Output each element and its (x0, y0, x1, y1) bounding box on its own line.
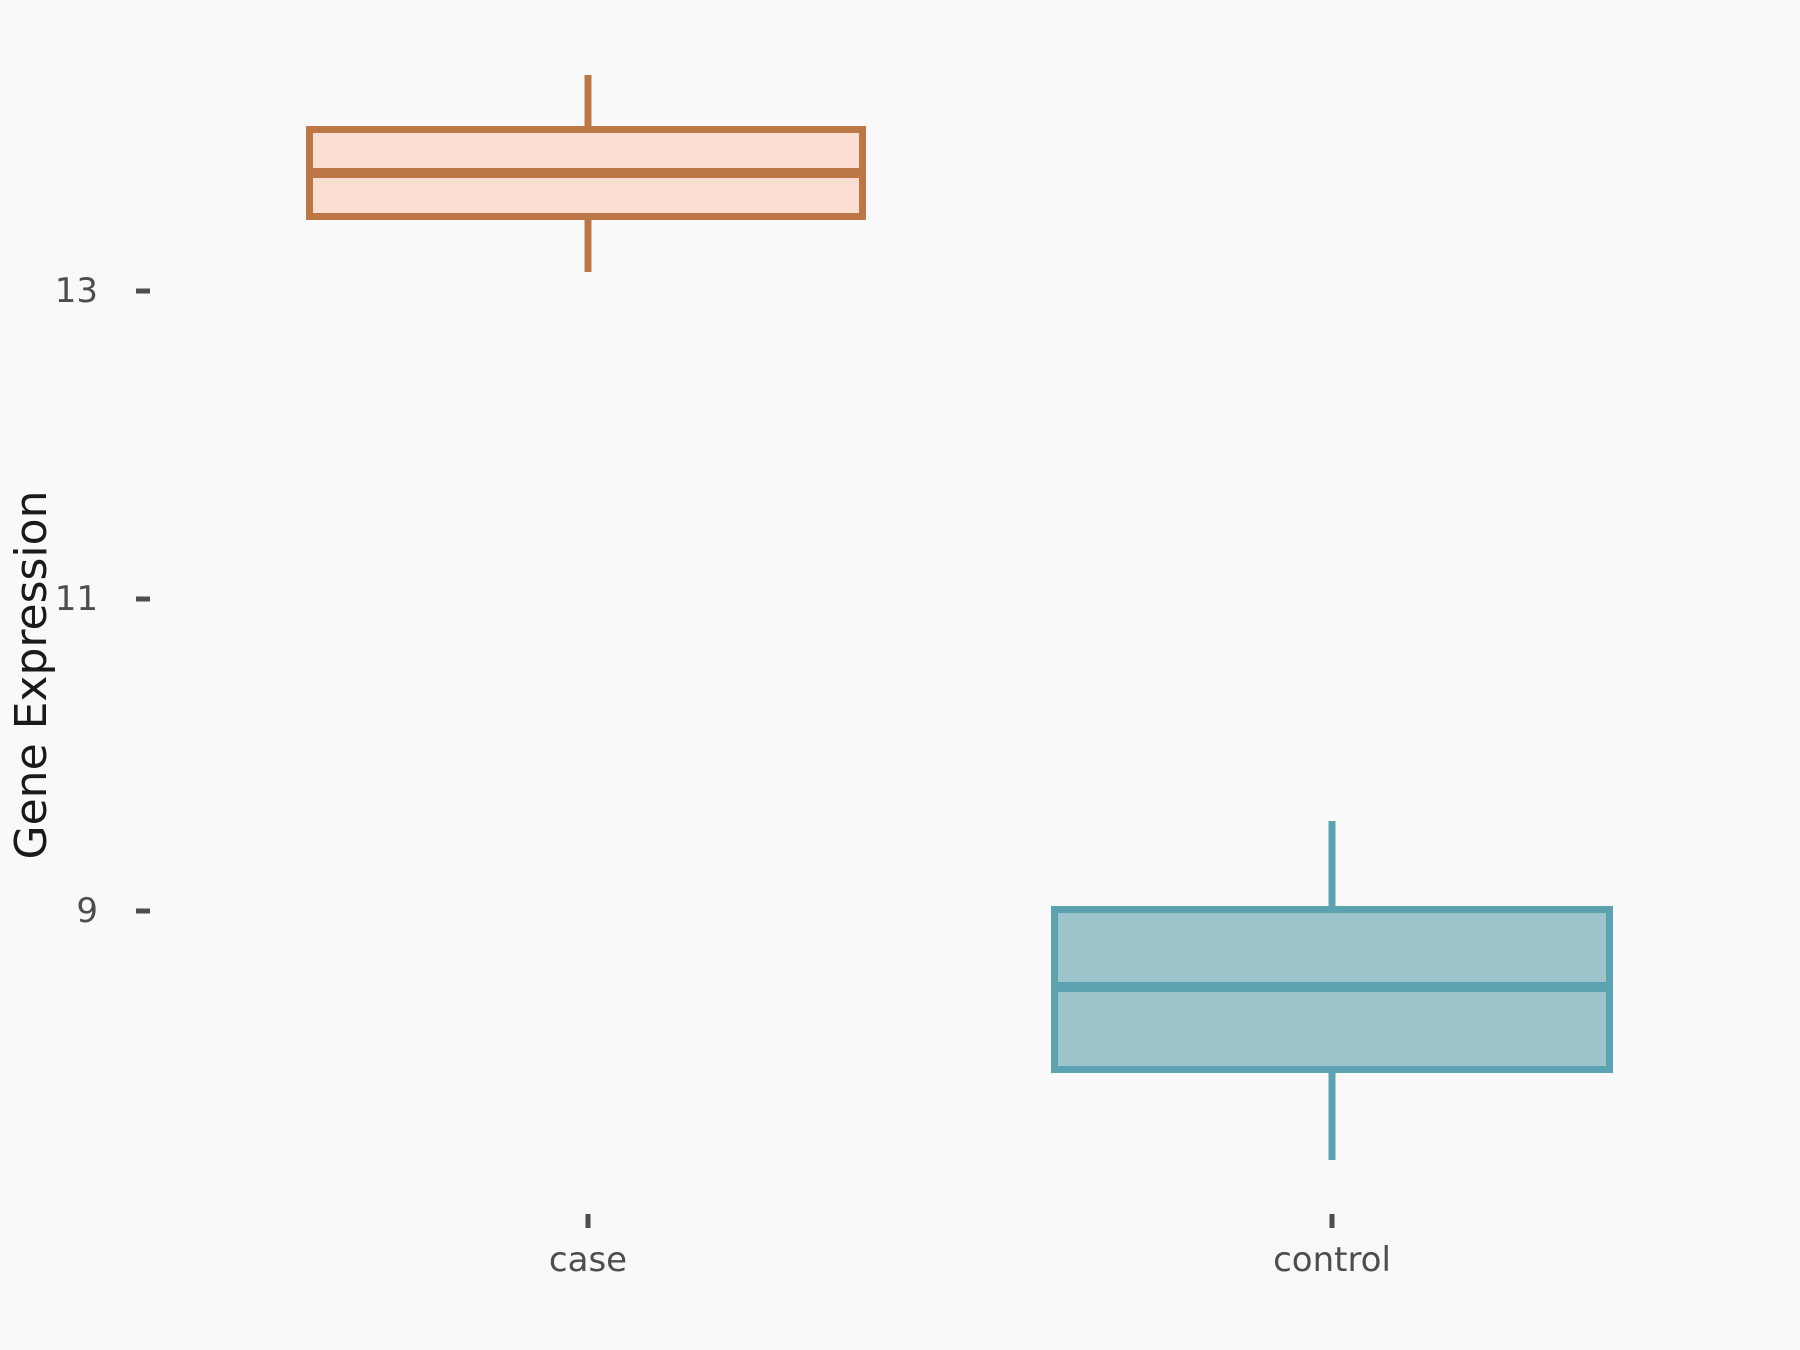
y-tick-label-11: 11 (55, 579, 98, 619)
x-tick-label-case: case (549, 1240, 627, 1280)
median-line-control (1051, 982, 1613, 992)
y-tick-mark-11 (136, 597, 150, 602)
y-tick-mark-9 (136, 909, 150, 914)
x-tick-label-control: control (1273, 1240, 1391, 1280)
y-tick-label-13: 13 (55, 271, 98, 311)
x-tick-mark-case (586, 1214, 591, 1228)
median-line-case (306, 168, 866, 178)
whisker-lower-case (585, 220, 592, 272)
y-axis-title: Gene Expression (0, 0, 62, 1350)
boxplot-figure: Gene Expression 13119 casecontrol (0, 0, 1800, 1350)
x-tick-mark-control (1330, 1214, 1335, 1228)
whisker-upper-control (1329, 821, 1336, 906)
y-tick-label-9: 9 (76, 891, 98, 931)
y-tick-mark-13 (136, 289, 150, 294)
whisker-lower-control (1329, 1073, 1336, 1160)
whisker-upper-case (585, 75, 592, 126)
